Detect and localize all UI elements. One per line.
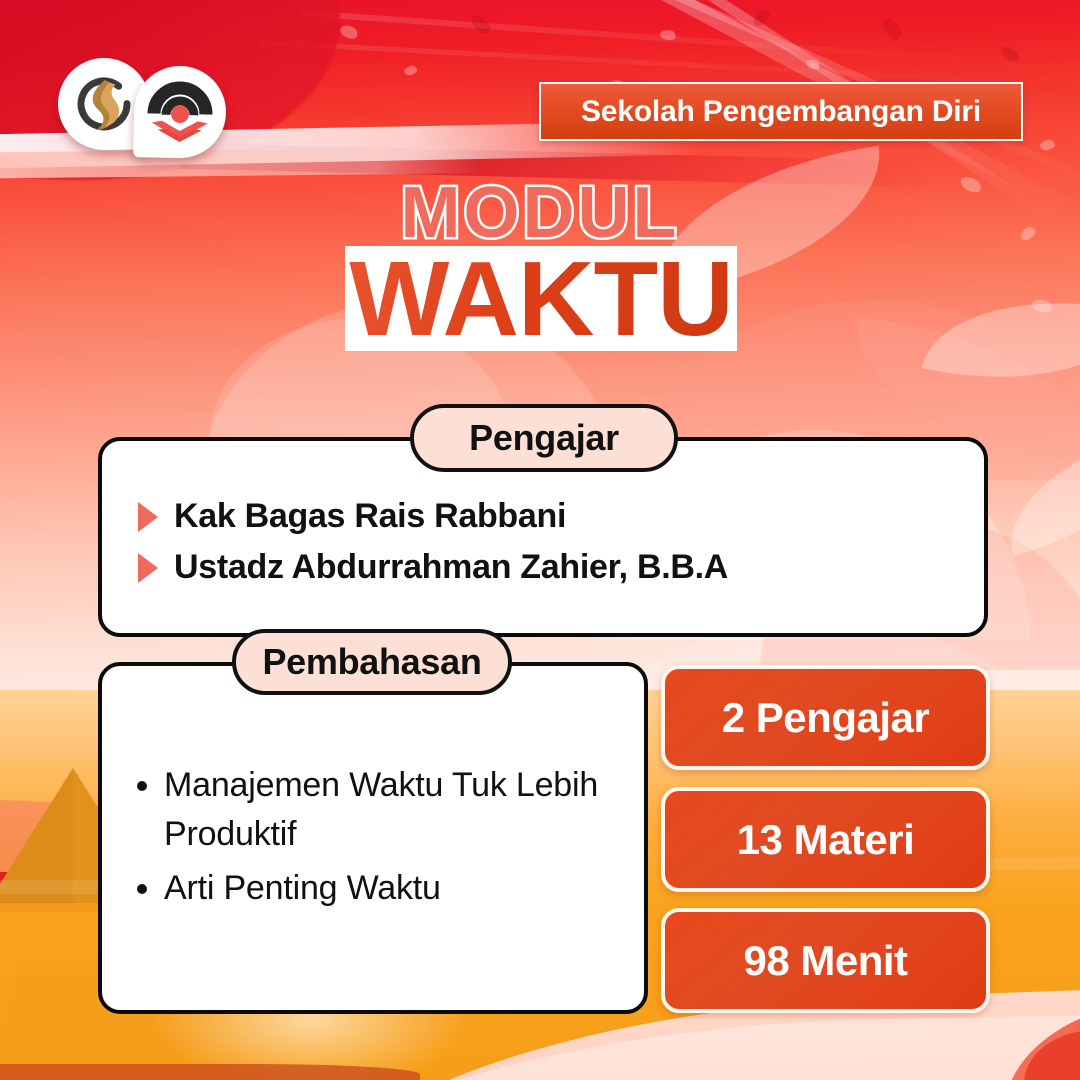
- pembahasan-card: Manajemen Waktu Tuk Lebih Produktif Arti…: [98, 662, 648, 1014]
- target-book-logo-icon: [133, 65, 227, 159]
- teacher-list: Kak Bagas Rais Rabbani Ustadz Abdurrahma…: [138, 497, 728, 599]
- school-banner: Sekolah Pengembangan Diri: [539, 82, 1023, 141]
- stat-value: 13 Materi: [737, 816, 915, 864]
- teacher-name: Kak Bagas Rais Rabbani: [174, 497, 566, 536]
- teacher-name: Ustadz Abdurrahman Zahier, B.B.A: [174, 548, 728, 587]
- stat-value: 98 Menit: [743, 937, 907, 985]
- stat-value: 2 Pengajar: [722, 694, 929, 742]
- school-banner-label: Sekolah Pengembangan Diri: [581, 95, 981, 129]
- list-item: Kak Bagas Rais Rabbani: [138, 497, 728, 536]
- poster-canvas: Sekolah Pengembangan Diri MODUL WAKTU Ka…: [0, 0, 1080, 1080]
- list-item: Arti Penting Waktu: [164, 864, 644, 913]
- logo-pin-group: [50, 52, 250, 162]
- stat-badge-menit: 98 Menit: [661, 908, 990, 1013]
- pengajar-label-pill: Pengajar: [410, 404, 678, 472]
- stat-badge-pengajar: 2 Pengajar: [661, 665, 990, 770]
- pembahasan-label: Pembahasan: [262, 641, 481, 683]
- stat-badge-materi: 13 Materi: [661, 787, 990, 892]
- bottom-dark-strip: [0, 1064, 420, 1080]
- triangle-bullet-icon: [138, 553, 158, 583]
- list-item: Manajemen Waktu Tuk Lebih Produktif: [164, 761, 644, 860]
- list-item: Ustadz Abdurrahman Zahier, B.B.A: [138, 548, 728, 587]
- triangle-bullet-icon: [138, 502, 158, 532]
- pembahasan-label-pill: Pembahasan: [232, 629, 512, 695]
- topic-list: Manajemen Waktu Tuk Lebih Produktif Arti…: [132, 761, 644, 917]
- page-title: WAKTU: [349, 246, 733, 352]
- title-main-wrapper: WAKTU: [345, 246, 737, 351]
- pengajar-label: Pengajar: [469, 417, 619, 459]
